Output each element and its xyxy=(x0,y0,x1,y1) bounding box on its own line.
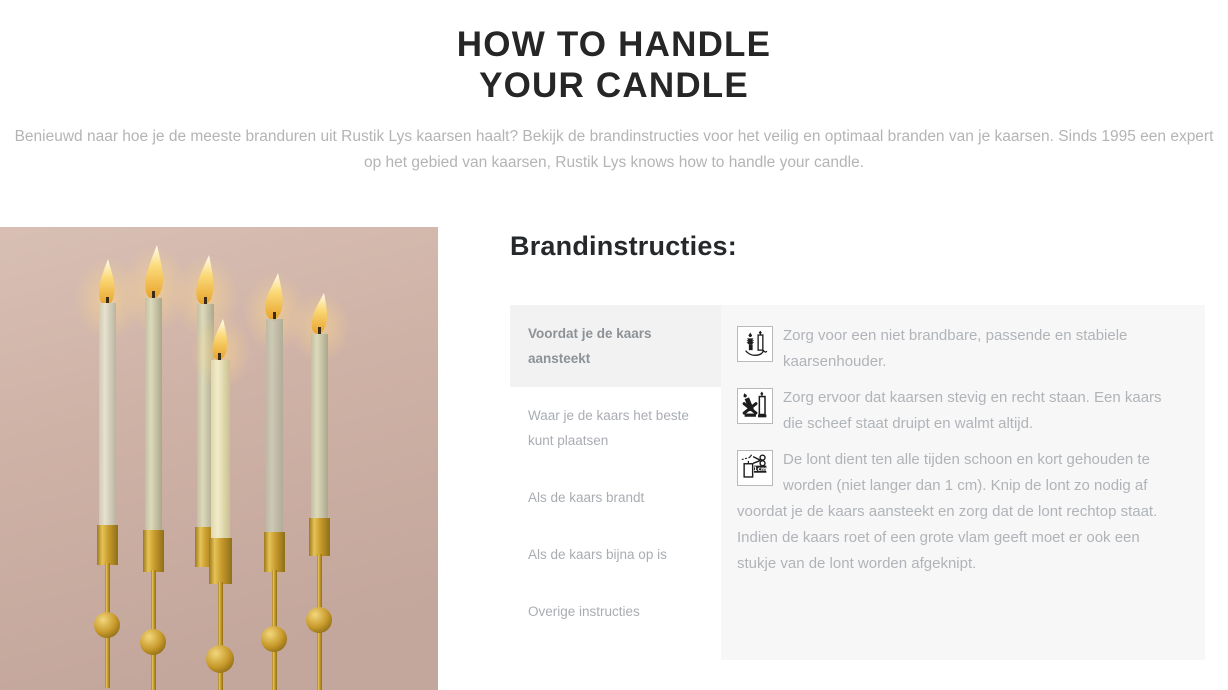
instruction-item: Zorg voor een niet brandbare, passende e… xyxy=(737,323,1183,375)
upright-candle-icon xyxy=(737,388,773,424)
section-title: Brandinstructies: xyxy=(510,229,1228,263)
instruction-item: Zorg ervoor dat kaarsen stevig en recht … xyxy=(737,385,1183,437)
candle-photo-illustration xyxy=(0,227,438,690)
candle-holder-icon xyxy=(737,326,773,362)
tab-voordat-je-de-kaars-aansteekt[interactable]: Voordat je de kaars aansteekt xyxy=(510,305,721,387)
page-root: HOW TO HANDLE YOUR CANDLE Benieuwd naar … xyxy=(0,0,1228,690)
instruction-text: De lont dient ten alle tijden schoon en … xyxy=(737,451,1157,572)
hero-section: HOW TO HANDLE YOUR CANDLE Benieuwd naar … xyxy=(0,0,1228,176)
instruction-item: 1cm De lont dient ten alle tijden schoon… xyxy=(737,447,1183,577)
instructions-tab-list: Voordat je de kaars aansteekt Waar je de… xyxy=(510,305,721,660)
tab-waar-je-de-kaars-het-beste-kunt-plaatsen[interactable]: Waar je de kaars het beste kunt plaatsen xyxy=(510,387,721,469)
content-row: Brandinstructies: Voordat je de kaars aa… xyxy=(0,227,1228,690)
tab-overige-instructies[interactable]: Overige instructies xyxy=(510,583,721,640)
svg-text:1cm: 1cm xyxy=(753,467,767,473)
instructions-column: Brandinstructies: Voordat je de kaars aa… xyxy=(438,227,1228,660)
tab-als-de-kaars-bijna-op-is[interactable]: Als de kaars bijna op is xyxy=(510,526,721,583)
page-title: HOW TO HANDLE YOUR CANDLE xyxy=(0,24,1228,106)
instruction-text: Zorg voor een niet brandbare, passende e… xyxy=(783,327,1127,370)
instructions-panel: Voordat je de kaars aansteekt Waar je de… xyxy=(510,305,1205,660)
page-intro-paragraph: Benieuwd naar hoe je de meeste branduren… xyxy=(10,124,1218,176)
instructions-tab-content: Zorg voor een niet brandbare, passende e… xyxy=(721,305,1205,660)
tab-als-de-kaars-brandt[interactable]: Als de kaars brandt xyxy=(510,469,721,526)
candle-photo xyxy=(0,227,438,690)
instruction-text: Zorg ervoor dat kaarsen stevig en recht … xyxy=(783,389,1162,432)
trim-wick-1cm-icon: 1cm xyxy=(737,450,773,486)
